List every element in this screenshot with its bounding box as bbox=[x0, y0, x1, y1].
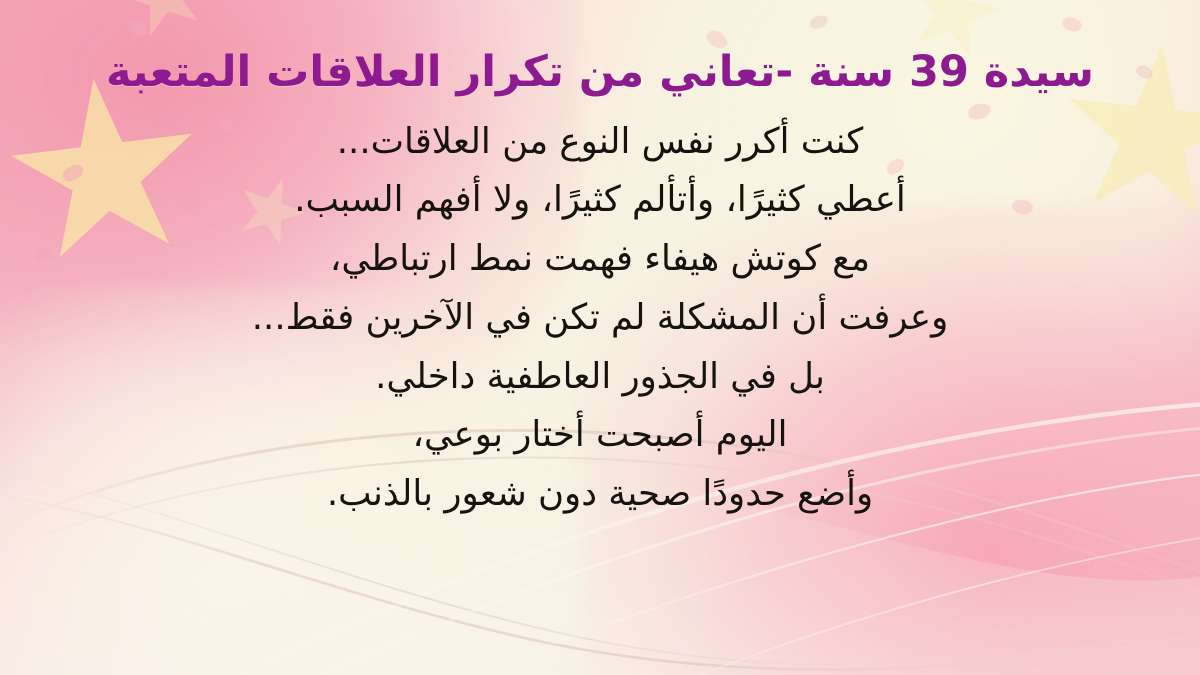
poster-content: سيدة 39 سنة -تعاني من تكرار العلاقات الم… bbox=[0, 0, 1200, 675]
testimonial-body: كنت أكرر نفس النوع من العلاقات... أعطي ك… bbox=[50, 113, 1150, 524]
poster-canvas: سيدة 39 سنة -تعاني من تكرار العلاقات الم… bbox=[0, 0, 1200, 675]
body-line: كنت أكرر نفس النوع من العلاقات... bbox=[50, 113, 1150, 172]
body-line: اليوم أصبحت أختار بوعي، bbox=[50, 406, 1150, 465]
body-line: مع كوتش هيفاء فهمت نمط ارتباطي، bbox=[50, 230, 1150, 289]
body-line: وأضع حدودًا صحية دون شعور بالذنب. bbox=[50, 465, 1150, 524]
body-line: أعطي كثيرًا، وأتألم كثيرًا، ولا أفهم الس… bbox=[50, 171, 1150, 230]
page-title: سيدة 39 سنة -تعاني من تكرار العلاقات الم… bbox=[5, 47, 1195, 98]
body-line: وعرفت أن المشكلة لم تكن في الآخرين فقط..… bbox=[50, 289, 1150, 348]
body-line: بل في الجذور العاطفية داخلي. bbox=[50, 348, 1150, 407]
